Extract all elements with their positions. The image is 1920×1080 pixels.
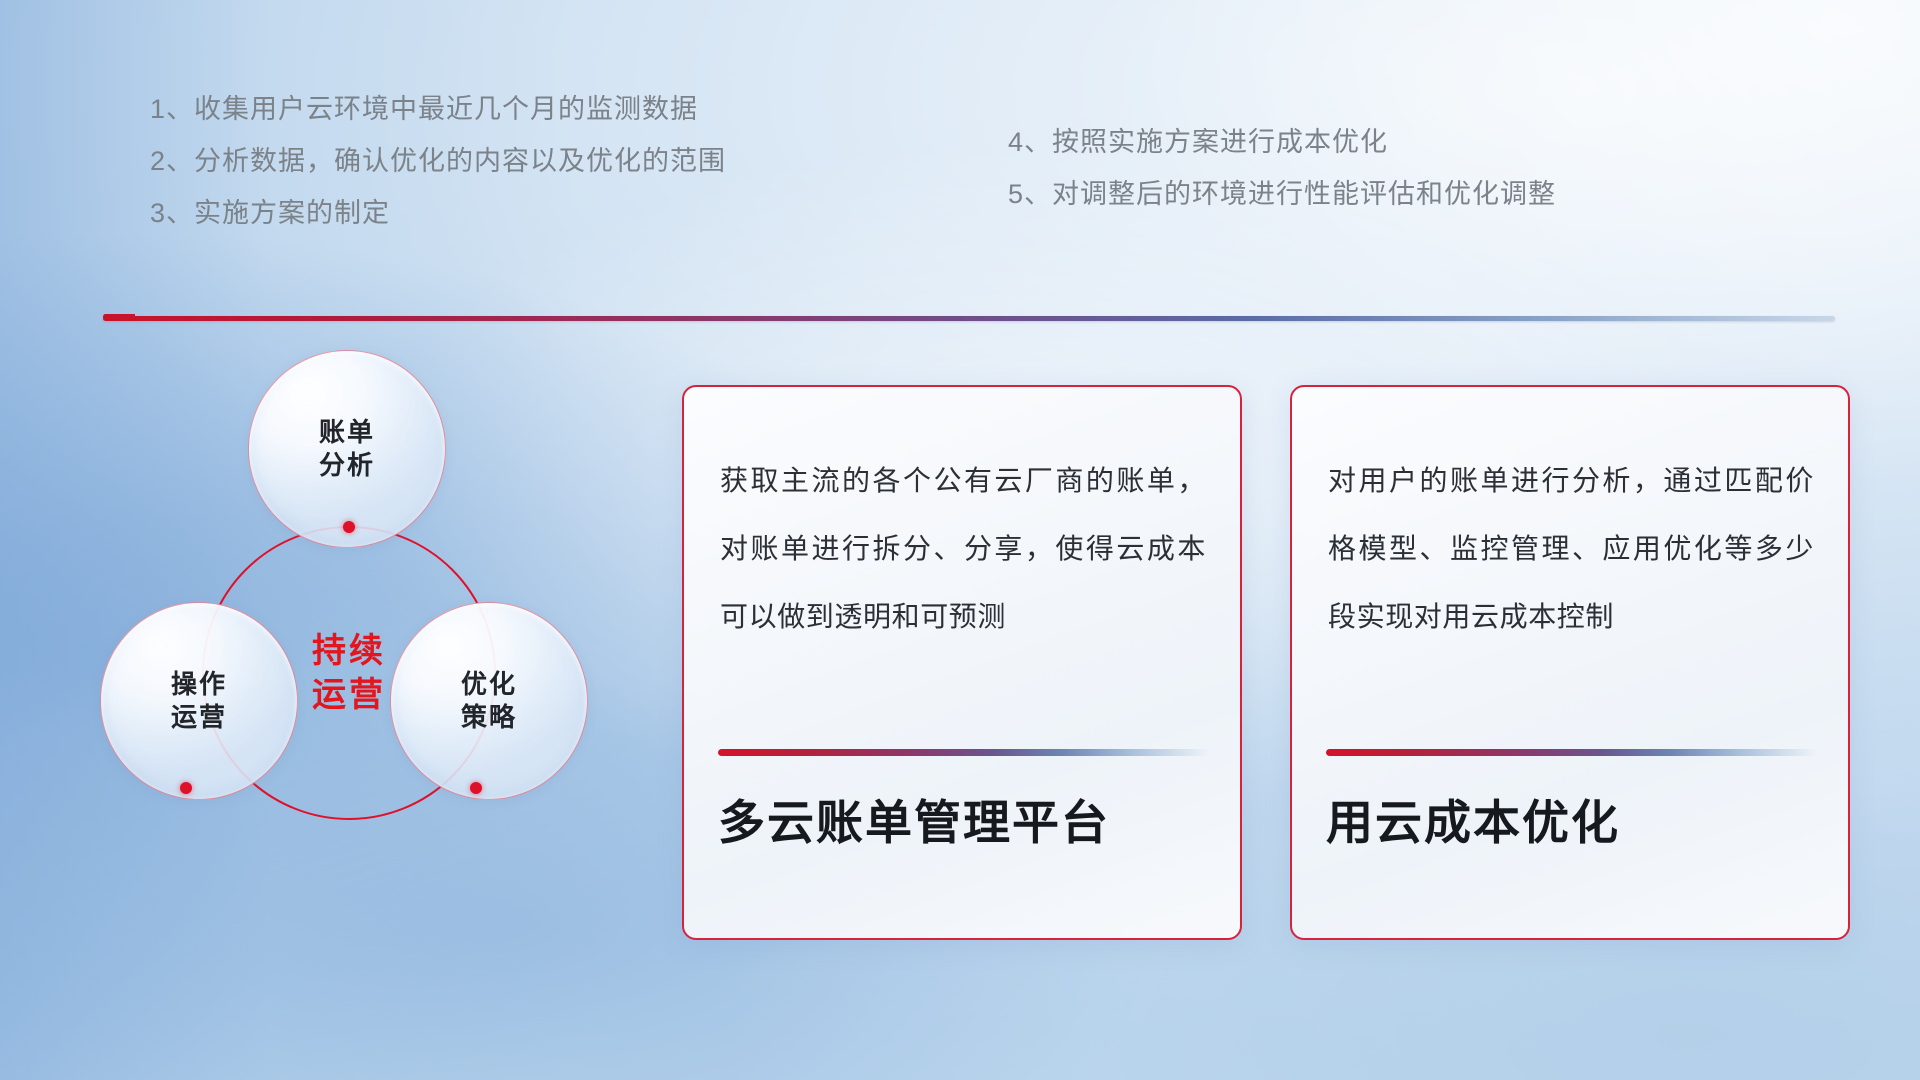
- venn-bubble-label-line1: 账单: [319, 419, 375, 446]
- process-step-item: 5、对调整后的环境进行性能评估和优化调整: [1008, 181, 1556, 208]
- process-steps-right-column: 4、按照实施方案进行成本优化 5、对调整后的环境进行性能评估和优化调整: [1008, 129, 1556, 233]
- venn-bubble-label-line2: 策略: [461, 704, 517, 731]
- venn-node-dot-top: [343, 521, 355, 533]
- process-step-item: 3、实施方案的制定: [150, 200, 726, 227]
- venn-bubble-billing-analysis[interactable]: 账单 分析: [248, 350, 446, 548]
- venn-diagram: 持续 运营 账单 分析 操作 运营 优化 策略: [100, 350, 640, 950]
- card-divider-rule: [1326, 749, 1818, 756]
- process-steps-region: 1、收集用户云环境中最近几个月的监测数据 2、分析数据，确认优化的内容以及优化的…: [0, 96, 1920, 246]
- card-title: 多云账单管理平台: [718, 795, 1210, 850]
- venn-bubble-label-line2: 运营: [171, 704, 227, 731]
- venn-node-dot-right: [470, 782, 482, 794]
- card-divider-rule: [718, 749, 1210, 756]
- venn-bubble-optimization-strategy[interactable]: 优化 策略: [390, 602, 588, 800]
- card-cloud-cost-optimization[interactable]: 对用户的账单进行分析，通过匹配价格模型、监控管理、应用优化等多少段实现对用云成本…: [1290, 385, 1850, 940]
- slide-canvas: 1、收集用户云环境中最近几个月的监测数据 2、分析数据，确认优化的内容以及优化的…: [0, 0, 1920, 1080]
- process-step-item: 2、分析数据，确认优化的内容以及优化的范围: [150, 148, 726, 175]
- process-step-item: 4、按照实施方案进行成本优化: [1008, 129, 1556, 156]
- venn-bubble-label-line1: 优化: [461, 671, 517, 698]
- venn-node-dot-left: [180, 782, 192, 794]
- process-steps-left-column: 1、收集用户云环境中最近几个月的监测数据 2、分析数据，确认优化的内容以及优化的…: [150, 96, 726, 252]
- venn-bubble-label-line2: 分析: [319, 452, 375, 479]
- venn-bubble-label-line1: 操作: [171, 671, 227, 698]
- process-step-item: 1、收集用户云环境中最近几个月的监测数据: [150, 96, 726, 123]
- card-multicloud-billing-platform[interactable]: 获取主流的各个公有云厂商的账单，对账单进行拆分、分享，使得云成本可以做到透明和可…: [682, 385, 1242, 940]
- card-title: 用云成本优化: [1326, 795, 1818, 850]
- card-body-text: 获取主流的各个公有云厂商的账单，对账单进行拆分、分享，使得云成本可以做到透明和可…: [720, 447, 1206, 650]
- venn-bubble-operations[interactable]: 操作 运营: [100, 602, 298, 800]
- section-divider-rule: [103, 316, 1835, 321]
- card-body-text: 对用户的账单进行分析，通过匹配价格模型、监控管理、应用优化等多少段实现对用云成本…: [1328, 447, 1814, 650]
